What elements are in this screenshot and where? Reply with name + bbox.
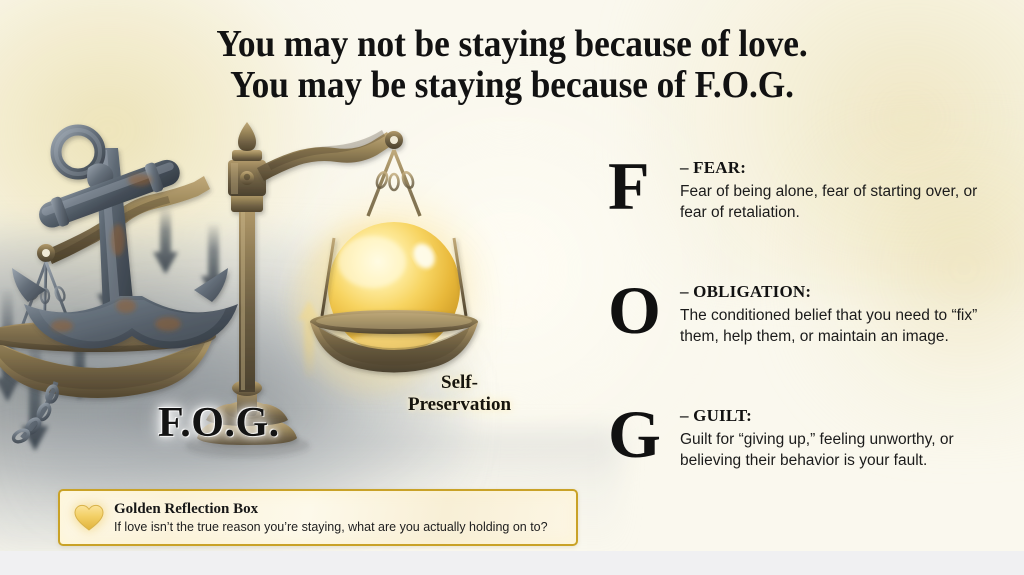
fog-item-obligation-body: – OBLIGATION: The conditioned belief tha…: [680, 282, 1008, 347]
fog-heading-obligation: – OBLIGATION:: [680, 282, 1008, 302]
page-title: You may not be staying because of love. …: [0, 24, 1024, 106]
fog-heading-fear: – FEAR:: [680, 158, 1008, 178]
reflection-question: If love isn’t the true reason you’re sta…: [114, 519, 564, 535]
fog-letter-o: O: [608, 276, 670, 344]
fog-item-obligation: O – OBLIGATION: The conditioned belief t…: [608, 282, 1008, 382]
reflection-title: Golden Reflection Box: [114, 500, 564, 518]
fog-definition-list: F – FEAR: Fear of being alone, fear of s…: [608, 158, 1008, 530]
balance-scale-illustration: F.O.G. Self- Preservation: [0, 120, 620, 520]
fog-item-guilt-body: – GUILT: Guilt for “giving up,” feeling …: [680, 406, 1008, 471]
anchor-icon: [12, 130, 238, 349]
balance-scale-icon: [0, 120, 620, 520]
fog-item-fear: F – FEAR: Fear of being alone, fear of s…: [608, 158, 1008, 258]
fog-item-guilt: G – GUILT: Guilt for “giving up,” feelin…: [608, 406, 1008, 506]
reflection-text-group: Golden Reflection Box If love isn’t the …: [114, 500, 564, 535]
fog-item-fear-body: – FEAR: Fear of being alone, fear of sta…: [680, 158, 1008, 223]
fog-letter-f: F: [608, 152, 670, 220]
title-line-1: You may not be staying because of love.: [36, 24, 988, 65]
title-line-2: You may be staying because of F.O.G.: [36, 65, 988, 106]
fog-description-obligation: The conditioned belief that you need to …: [680, 305, 980, 347]
gold-heart-icon: [72, 501, 106, 535]
infographic-poster: You may not be staying because of love. …: [0, 0, 1024, 551]
fog-pan-label: F.O.G.: [158, 402, 280, 444]
self-preservation-label: Self- Preservation: [392, 372, 527, 416]
self-preservation-line-2: Preservation: [392, 394, 527, 416]
fog-letter-g: G: [608, 400, 670, 468]
fog-heading-guilt: – GUILT:: [680, 406, 1008, 426]
golden-reflection-box: Golden Reflection Box If love isn’t the …: [58, 489, 578, 546]
fog-description-fear: Fear of being alone, fear of starting ov…: [680, 181, 980, 223]
fog-description-guilt: Guilt for “giving up,” feeling unworthy,…: [680, 429, 980, 471]
self-preservation-line-1: Self-: [392, 372, 527, 394]
